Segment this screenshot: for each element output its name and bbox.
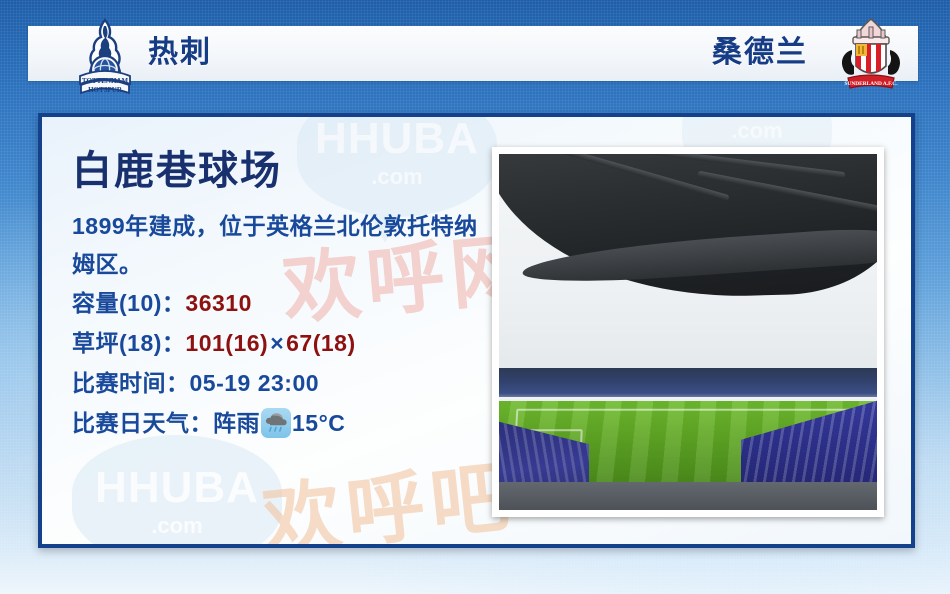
capacity-value: 36310 [185, 290, 251, 316]
svg-text:TOTTENHAM: TOTTENHAM [82, 77, 129, 85]
stadium-info-card: HHUBA .com HHUBA .com 欢呼网 欢呼吧 .com 白鹿巷球场… [38, 113, 915, 548]
watermark-domain-bottom: .com [151, 513, 202, 539]
match-time-value: 05-19 23:00 [190, 370, 320, 396]
weather-condition: 阵雨 [213, 410, 260, 436]
svg-text:HOTSPUR: HOTSPUR [88, 86, 123, 94]
away-team-name: 桑德兰 [712, 32, 808, 74]
weather-temperature: 15°C [292, 410, 345, 436]
watermark-chinese-bottom: 欢呼吧 [257, 434, 519, 548]
svg-text:SUNDERLAND A.F.C.: SUNDERLAND A.F.C. [844, 81, 898, 87]
weather-label: 比赛日天气： [72, 410, 213, 436]
stadium-photo-frame [492, 147, 884, 517]
home-team-name: 热刺 [148, 32, 212, 74]
pitch-size-label: 草坪(18)： [72, 330, 185, 356]
pitch-size-row: 草坪(18)：101(16)×67(18) [72, 323, 492, 363]
capacity-label: 容量(10)： [72, 290, 185, 316]
watermark-domain-side: .com [731, 118, 782, 144]
tottenham-hotspur-crest-icon: TOTTENHAM HOTSPUR [68, 16, 142, 98]
pitch-length-value: 101(16) [185, 330, 268, 356]
watermark-brand-text-bottom: HHUBA [95, 463, 259, 513]
match-time-label: 比赛时间： [72, 370, 190, 396]
stadium-description: 1899年建成，位于英格兰北伦敦托特纳姆区。 [72, 207, 492, 283]
stadium-photo [499, 154, 877, 510]
sunderland-afc-crest-icon: SUNDERLAND A.F.C. [834, 16, 908, 98]
stadium-name-title: 白鹿巷球场 [72, 147, 492, 195]
shower-rain-icon [261, 408, 291, 438]
match-header: TOTTENHAM HOTSPUR 热刺 桑德兰 [28, 26, 918, 81]
match-time-row: 比赛时间：05-19 23:00 [72, 363, 492, 403]
pitch-size-separator: × [268, 330, 286, 356]
capacity-row: 容量(10)：36310 [72, 283, 492, 323]
photo-vignette [499, 154, 877, 510]
pitch-width-value: 67(18) [286, 330, 355, 356]
match-day-weather-row: 比赛日天气：阵雨 15°C [72, 403, 492, 443]
watermark-bubble-bottom: HHUBA .com [72, 435, 282, 548]
stadium-info-column: 白鹿巷球场 1899年建成，位于英格兰北伦敦托特纳姆区。 容量(10)：3631… [72, 147, 492, 443]
